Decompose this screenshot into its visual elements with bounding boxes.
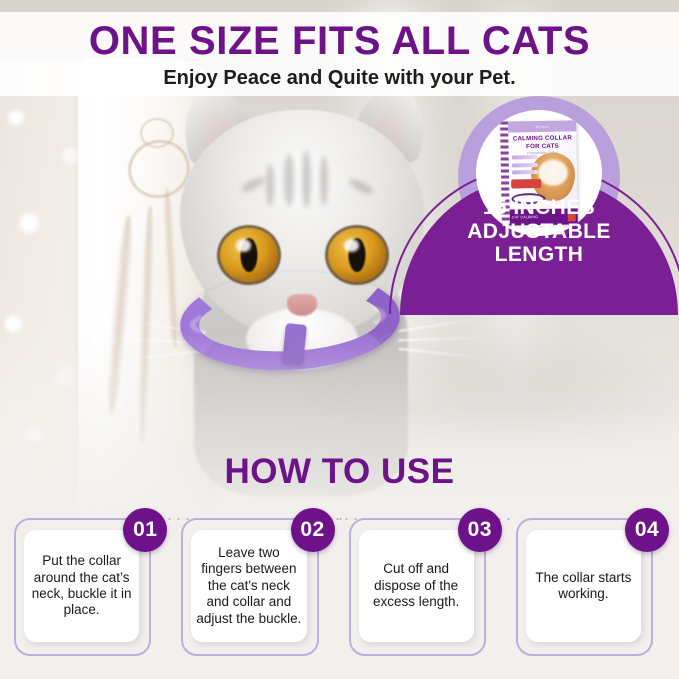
step-text: Leave two fingers between the cat's neck… (196, 545, 301, 627)
cat-forehead-stripe (284, 154, 294, 206)
page-title: ONE SIZE FITS ALL CATS (89, 21, 590, 61)
step-number-badge: 01 (123, 508, 167, 552)
step-text: Put the collar around the cat’s neck, bu… (29, 553, 134, 619)
product-box-feature-icons (512, 155, 538, 174)
cat-eye-highlight (236, 239, 251, 252)
step-card-04: The collar starts working. 04 (510, 508, 671, 656)
step-card-body: Put the collar around the cat’s neck, bu… (24, 530, 139, 642)
step-card-body: Cut off and dispose of the excess length… (359, 530, 474, 642)
step-card-body: The collar starts working. (526, 530, 641, 642)
feature-bullet-icon (512, 170, 538, 174)
feature-bullet-icon (512, 155, 538, 159)
step-text: Cut off and dispose of the excess length… (364, 561, 469, 610)
feature-bullet-icon (512, 163, 538, 167)
cat-forehead-stripe (266, 164, 274, 206)
size-badge-line2: ADJUSTABLE (398, 220, 679, 244)
size-badge-text: 15 INCHES ADJUSTABLE LENGTH (398, 196, 679, 267)
step-card-02: Leave two fingers between the cat's neck… (175, 508, 336, 656)
cat-forehead-stripe (302, 150, 311, 208)
page-subtitle: Enjoy Peace and Quite with your Pet. (163, 68, 515, 88)
cat-cheek-stripe (239, 174, 266, 194)
collar-buckle (282, 323, 307, 365)
step-number-badge: 04 (625, 508, 669, 552)
size-badge-line1: 15 INCHES (398, 196, 679, 220)
cat-eye-highlight (344, 239, 359, 252)
product-box-title: CALMING COLLAR FOR CATS Pheromone Collar (510, 134, 574, 155)
step-number-badge: 02 (291, 508, 335, 552)
cat-cheek-stripe (347, 176, 374, 196)
step-card-01: Put the collar around the cat’s neck, bu… (8, 508, 169, 656)
post-carving-detail (140, 118, 174, 148)
size-badge: 15 inch CALMING COLLAR FOR CATS Pheromon… (398, 96, 679, 292)
size-badge-line3: LENGTH (398, 243, 679, 267)
product-box-cat-face (538, 160, 568, 187)
cat-forehead-stripe (320, 156, 328, 206)
product-box-size-text: 15 inch (535, 124, 548, 128)
how-to-use-steps: Put the collar around the cat’s neck, bu… (8, 508, 671, 656)
header-banner: ONE SIZE FITS ALL CATS Enjoy Peace and Q… (0, 12, 679, 96)
step-text: The collar starts working. (531, 570, 636, 603)
how-to-use-title: HOW TO USE (0, 452, 679, 492)
step-number-badge: 03 (458, 508, 502, 552)
product-box-top-label: 15 inch (508, 120, 576, 132)
step-card-body: Leave two fingers between the cat's neck… (191, 530, 306, 642)
purple-cat-collar (180, 272, 400, 370)
step-card-03: Cut off and dispose of the excess length… (343, 508, 504, 656)
product-box-red-badge (511, 179, 541, 189)
